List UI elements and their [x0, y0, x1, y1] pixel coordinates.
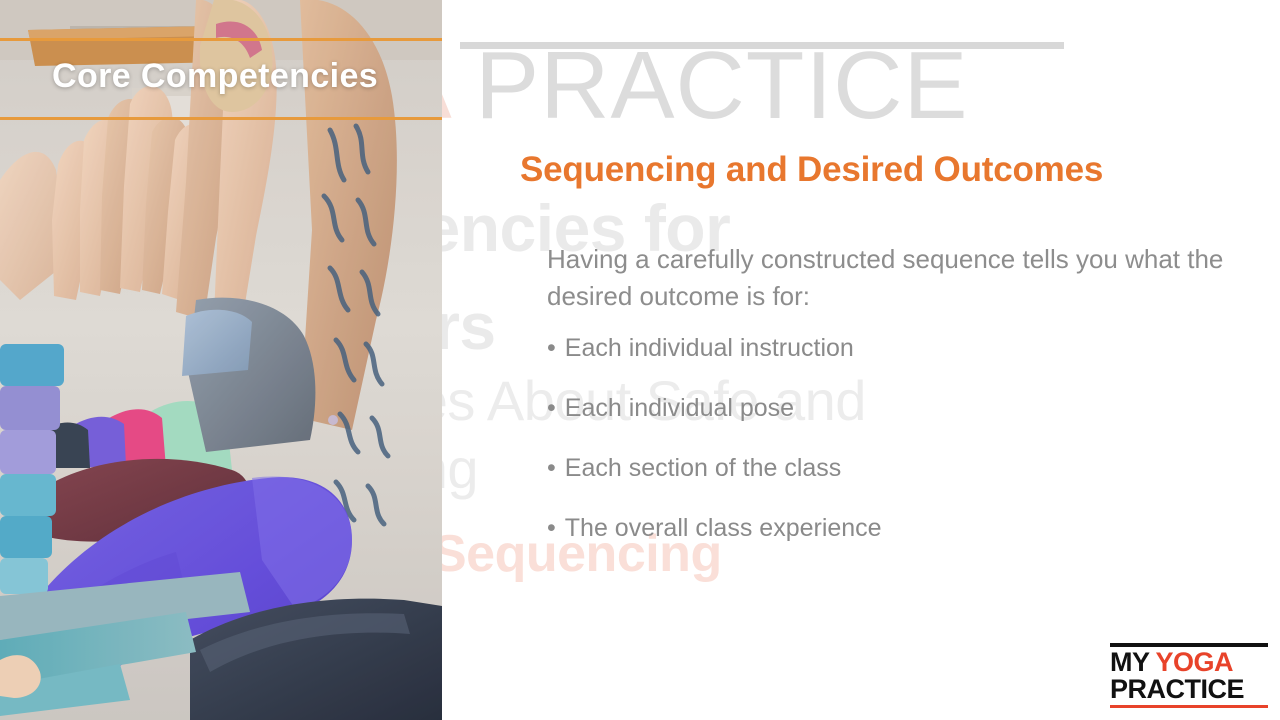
watermark-line-2: chers	[442, 288, 496, 364]
bullet-list: •Each individual instruction •Each indiv…	[547, 336, 1247, 576]
slide-root: Core Competencies GA PRACTICE petencies …	[0, 0, 1280, 720]
watermark-line-4: encing	[442, 436, 478, 501]
list-item: •The overall class experience	[547, 516, 1247, 541]
watermark-logo: GA PRACTICE	[442, 36, 968, 137]
list-item-label: The overall class experience	[565, 514, 882, 542]
list-item: •Each individual pose	[547, 396, 1247, 421]
slide-content-panel: GA PRACTICE petencies for chers encies A…	[442, 0, 1280, 720]
page-title: Core Competencies	[52, 57, 378, 96]
watermark-logo-pink: GA	[442, 32, 447, 139]
logo-rule-bottom	[1110, 705, 1268, 708]
logo-line-2: PRACTICE	[1110, 676, 1268, 704]
list-item: •Each individual instruction	[547, 336, 1247, 361]
logo-line-1: MY YOGA	[1110, 649, 1268, 677]
bullet-icon: •	[547, 336, 556, 361]
list-item-label: Each individual instruction	[565, 334, 854, 362]
logo-yoga-text: YOGA	[1156, 647, 1234, 677]
bullet-icon: •	[547, 396, 556, 421]
list-item-label: Each section of the class	[565, 454, 842, 482]
lead-paragraph: Having a carefully constructed sequence …	[547, 241, 1227, 315]
bullet-icon: •	[547, 516, 556, 541]
section-headline: Sequencing and Desired Outcomes	[520, 150, 1103, 190]
logo-my-text: MY	[1110, 647, 1156, 677]
brand-logo: MY YOGA PRACTICE	[1110, 643, 1268, 708]
watermark-logo-gray: PRACTICE	[447, 32, 968, 139]
yoga-class-photo	[0, 0, 442, 720]
watermark-rule	[460, 42, 1064, 49]
bullet-icon: •	[547, 456, 556, 481]
list-item: •Each section of the class	[547, 456, 1247, 481]
list-item-label: Each individual pose	[565, 394, 794, 422]
